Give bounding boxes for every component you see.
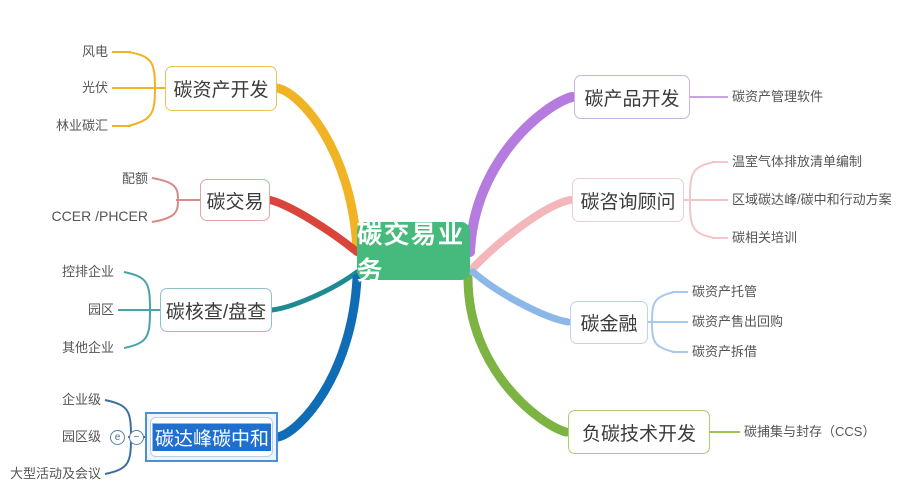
leaf-lin-ye-tan-hui[interactable]: 林业碳汇 bbox=[0, 118, 108, 134]
node-carbon-asset-development[interactable]: 碳资产开发 bbox=[165, 66, 277, 111]
leaf-asset-lending[interactable]: 碳资产拆借 bbox=[692, 344, 757, 360]
leaf-label: 大型活动及会议 bbox=[10, 466, 101, 481]
center-node[interactable]: 碳交易业务 bbox=[357, 222, 470, 280]
leaf-label: 风电 bbox=[82, 44, 108, 59]
node-label: 碳交易 bbox=[206, 187, 263, 214]
leaf-feng-dian[interactable]: 风电 bbox=[0, 44, 108, 60]
leaf-kong-pai-qi-ye[interactable]: 控排企业 bbox=[0, 264, 114, 280]
leaf-asset-custody[interactable]: 碳资产托管 bbox=[692, 284, 757, 300]
node-label: 负碳技术开发 bbox=[582, 419, 696, 446]
node-carbon-finance[interactable]: 碳金融 bbox=[570, 301, 648, 344]
leaf-label: 林业碳汇 bbox=[56, 118, 108, 133]
leaf-da-xing-huo-dong[interactable]: 大型活动及会议 bbox=[0, 466, 101, 482]
wire-carbon-finance bbox=[473, 272, 568, 322]
node-label: 碳咨询顾问 bbox=[580, 187, 675, 214]
leaf-label: 碳相关培训 bbox=[732, 230, 797, 245]
center-node-label: 碳交易业务 bbox=[357, 215, 470, 287]
node-carbon-consulting[interactable]: 碳咨询顾问 bbox=[572, 178, 684, 222]
leaf-label: 企业级 bbox=[62, 392, 101, 407]
leaf-label: 区域碳达峰/碳中和行动方案 bbox=[732, 192, 892, 207]
wire-carbon-peak-neutrality bbox=[278, 278, 357, 437]
leaf-label: 温室气体排放清单编制 bbox=[732, 154, 862, 169]
node-carbon-trading[interactable]: 碳交易 bbox=[200, 179, 270, 221]
node-carbon-peak-neutrality-edit-frame[interactable]: 碳达峰碳中和 bbox=[145, 412, 278, 462]
leaf-yuan-qu-ji[interactable]: 园区级 bbox=[0, 429, 101, 445]
leaf-label: 碳资产拆借 bbox=[692, 344, 757, 359]
node-negative-carbon-tech[interactable]: 负碳技术开发 bbox=[568, 410, 710, 454]
leaf-ghg-inventory[interactable]: 温室气体排放清单编制 bbox=[732, 154, 862, 170]
wire-carbon-consulting bbox=[473, 200, 570, 268]
leaf-label: 光伏 bbox=[82, 80, 108, 95]
node-title-input[interactable]: 碳达峰碳中和 bbox=[152, 423, 271, 451]
bracket-carbon-trading bbox=[152, 178, 178, 222]
leaf-label: 碳资产托管 bbox=[692, 284, 757, 299]
leaf-label: 其他企业 bbox=[62, 340, 114, 355]
leaf-label: 碳捕集与封存（CCS） bbox=[744, 424, 875, 439]
leaf-label: 配额 bbox=[122, 171, 148, 186]
node-label: 碳金融 bbox=[580, 309, 637, 336]
leaf-carbon-asset-mgmt-software[interactable]: 碳资产管理软件 bbox=[732, 89, 823, 105]
leaf-yuan-qu[interactable]: 园区 bbox=[0, 302, 114, 318]
leaf-label: 控排企业 bbox=[62, 264, 114, 279]
leaf-regional-peak-plan[interactable]: 区域碳达峰/碳中和行动方案 bbox=[732, 192, 892, 208]
wire-carbon-trading bbox=[270, 200, 357, 252]
leaf-ccer-phcer[interactable]: CCER /PHCER bbox=[0, 208, 148, 224]
mindmap-canvas: 碳交易业务 碳资产开发 碳交易 碳核查/盘查 碳达峰碳中和 e − 碳产品开发 … bbox=[0, 0, 900, 489]
node-carbon-product-development[interactable]: 碳产品开发 bbox=[574, 75, 690, 119]
collapse-icon[interactable]: − bbox=[129, 430, 144, 445]
node-label: 碳资产开发 bbox=[173, 75, 268, 102]
leaf-qi-ta-qi-ye[interactable]: 其他企业 bbox=[0, 340, 114, 356]
note-icon[interactable]: e bbox=[110, 430, 125, 445]
leaf-label: CCER /PHCER bbox=[52, 208, 148, 224]
leaf-asset-repurchase[interactable]: 碳资产售出回购 bbox=[692, 314, 783, 330]
node-carbon-verification[interactable]: 碳核查/盘查 bbox=[160, 288, 272, 332]
leaf-label: 碳资产售出回购 bbox=[692, 314, 783, 329]
node-label: 碳核查/盘查 bbox=[166, 297, 266, 324]
leaf-guang-fu[interactable]: 光伏 bbox=[0, 80, 108, 96]
wire-carbon-verification bbox=[272, 272, 357, 310]
leaf-label: 园区级 bbox=[62, 429, 101, 444]
leaf-pei-e[interactable]: 配额 bbox=[0, 171, 148, 187]
node-label: 碳产品开发 bbox=[584, 84, 679, 111]
selected-text[interactable]: 碳达峰碳中和 bbox=[153, 424, 271, 451]
leaf-label: 园区 bbox=[88, 302, 114, 317]
leaf-label: 碳资产管理软件 bbox=[732, 89, 823, 104]
leaf-carbon-training[interactable]: 碳相关培训 bbox=[732, 230, 797, 246]
leaf-qi-ye-ji[interactable]: 企业级 bbox=[0, 392, 101, 408]
leaf-ccs[interactable]: 碳捕集与封存（CCS） bbox=[744, 424, 875, 440]
